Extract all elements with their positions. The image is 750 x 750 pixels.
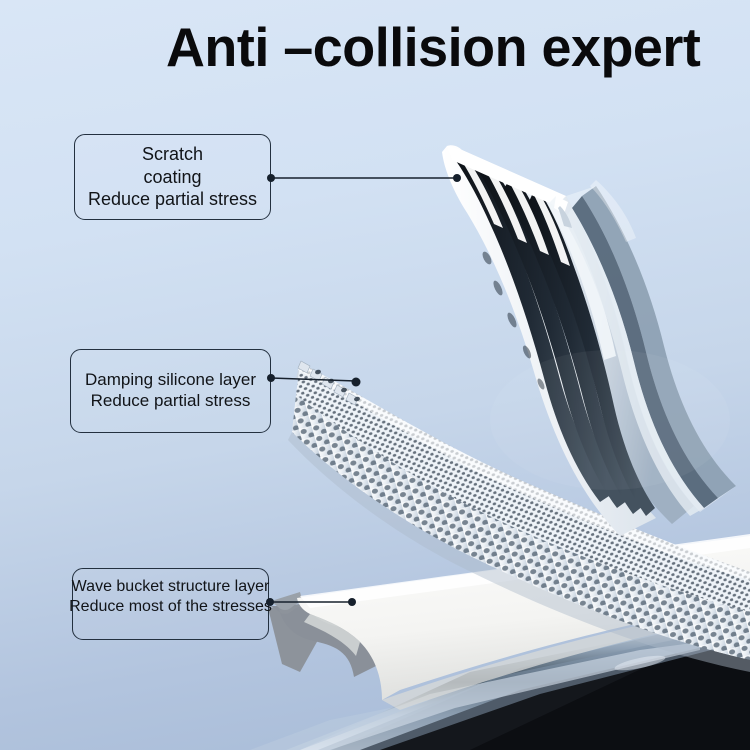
leader-line-1 (267, 174, 461, 182)
leader-line-2 (267, 374, 361, 387)
leader-lines (0, 0, 750, 750)
leader-line-3 (266, 598, 356, 606)
product-feature-graphic: Anti –collision expert Scratch coating R… (0, 0, 750, 750)
